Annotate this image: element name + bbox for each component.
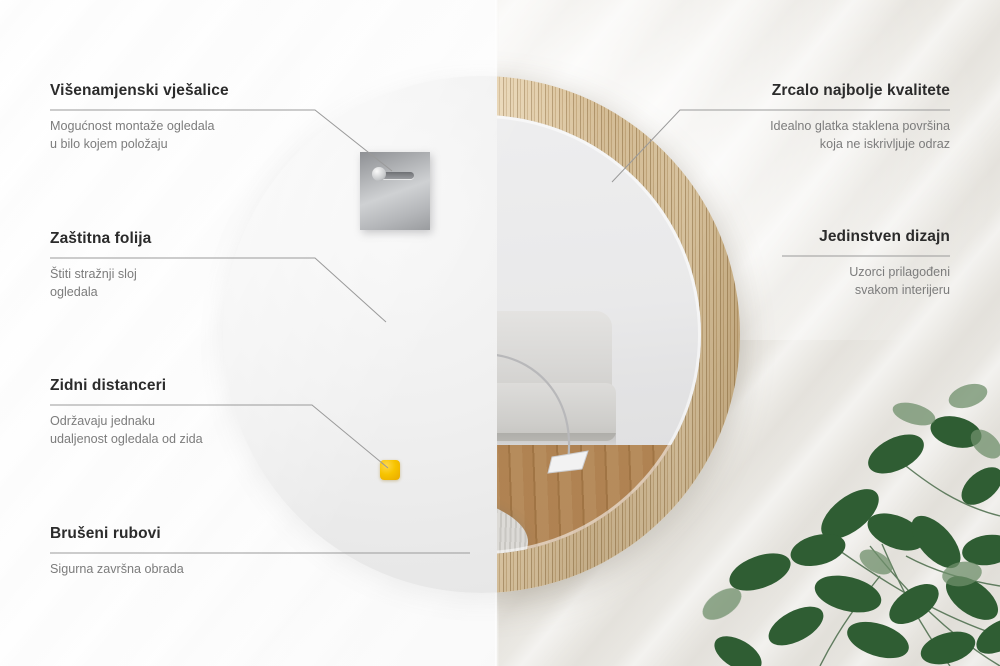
feature-jedinstven-dizajn: Jedinstven dizajn Uzorci prilagođeni sva… <box>819 228 950 300</box>
mirror-glass <box>497 115 701 554</box>
feature-description: Sigurna završna obrada <box>50 560 184 578</box>
feature-description: Idealno glatka staklena površina koja ne… <box>770 117 950 154</box>
decorative-foliage <box>700 336 1000 666</box>
feature-title: Zidni distanceri <box>50 377 203 395</box>
feature-description: Održavaju jednaku udaljenost ogledala od… <box>50 412 203 449</box>
feature-title: Zaštitna folija <box>50 230 151 248</box>
wall-spacer <box>380 460 400 480</box>
feature-title: Zrcalo najbolje kvalitete <box>770 82 950 100</box>
feature-zrcalo-najbolje-kvalitete: Zrcalo najbolje kvalitete Idealno glatka… <box>770 82 950 154</box>
feature-title: Jedinstven dizajn <box>819 228 950 246</box>
feature-description: Uzorci prilagođeni svakom interijeru <box>819 263 950 300</box>
hanger-keyhole-opening <box>372 167 386 181</box>
feature-title: Brušeni rubovi <box>50 525 184 543</box>
feature-bruseni-rubovi: Brušeni rubovi Sigurna završna obrada <box>50 525 184 578</box>
feature-title: Višenamjenski vješalice <box>50 82 229 100</box>
wall-hanger-plate <box>360 152 430 230</box>
feature-description: Mogućnost montaže ogledala u bilo kojem … <box>50 117 229 154</box>
feature-zidni-distanceri: Zidni distanceri Održavaju jednaku udalj… <box>50 377 203 449</box>
infographic-canvas: Višenamjenski vješalice Mogućnost montaž… <box>0 0 1000 666</box>
feature-visenamjenski-vjesalice: Višenamjenski vješalice Mogućnost montaž… <box>50 82 229 154</box>
feature-zastitna-folija: Zaštitna folija Štiti stražnji sloj ogle… <box>50 230 151 302</box>
feature-description: Štiti stražnji sloj ogledala <box>50 265 151 302</box>
